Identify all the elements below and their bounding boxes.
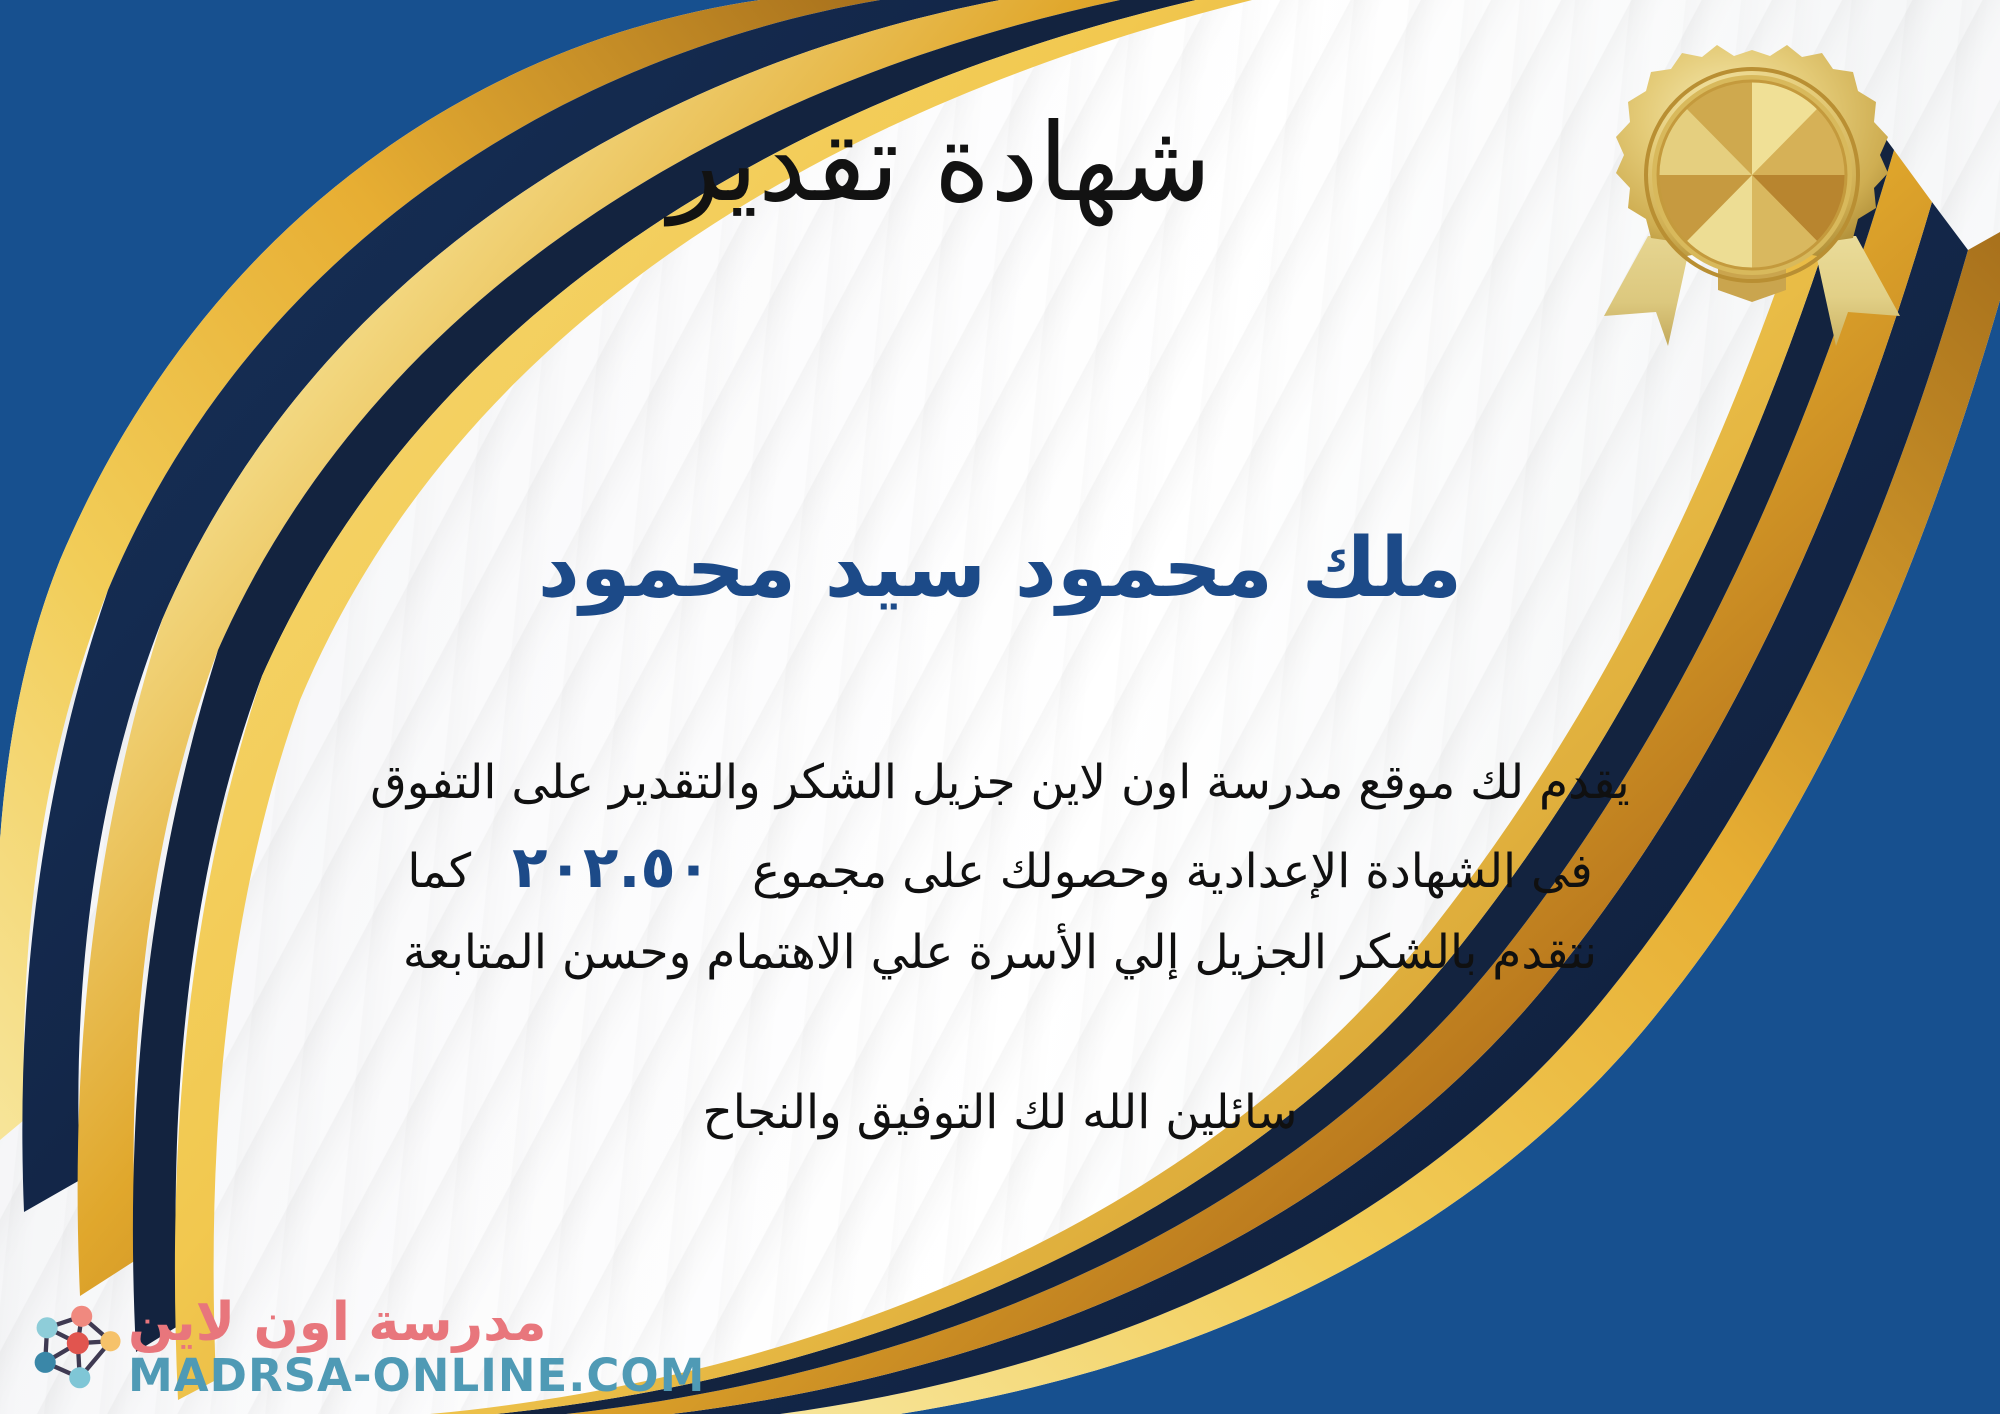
student-name: ملك محمود سيد محمود bbox=[0, 520, 2000, 618]
body-line-3: نتقدم بالشكر الجزيل إلي الأسرة علي الاهت… bbox=[55, 915, 1945, 991]
body-line-2: فى الشهادة الإعدادية وحصولك على مجموع ٢٠… bbox=[55, 821, 1945, 915]
site-logo[interactable]: مدرسة اون لاين MADRSA-ONLINE.COM bbox=[26, 1295, 705, 1400]
logo-domain: MADRSA-ONLINE.COM bbox=[128, 1351, 705, 1401]
certificate-canvas: شهادة تقدير ملك محمود سيد محمود يقدم لك … bbox=[0, 0, 2000, 1414]
body-line-1: يقدم لك موقع مدرسة اون لاين جزيل الشكر و… bbox=[55, 745, 1945, 821]
page-title: شهادة تقدير bbox=[0, 105, 2000, 224]
network-nodes-icon bbox=[26, 1299, 122, 1395]
body-line-2-suffix: كما bbox=[407, 844, 471, 899]
logo-arabic-name: مدرسة اون لاين bbox=[128, 1295, 547, 1351]
closing-wish: سائلين الله لك التوفيق والنجاح bbox=[0, 1085, 2000, 1140]
total-score-value: ٢٠٢.٥٠ bbox=[486, 833, 737, 901]
body-line-2-prefix: فى الشهادة الإعدادية وحصولك على مجموع bbox=[752, 844, 1593, 899]
logo-text-block: مدرسة اون لاين MADRSA-ONLINE.COM bbox=[128, 1295, 705, 1400]
body-paragraph: يقدم لك موقع مدرسة اون لاين جزيل الشكر و… bbox=[55, 745, 1945, 991]
